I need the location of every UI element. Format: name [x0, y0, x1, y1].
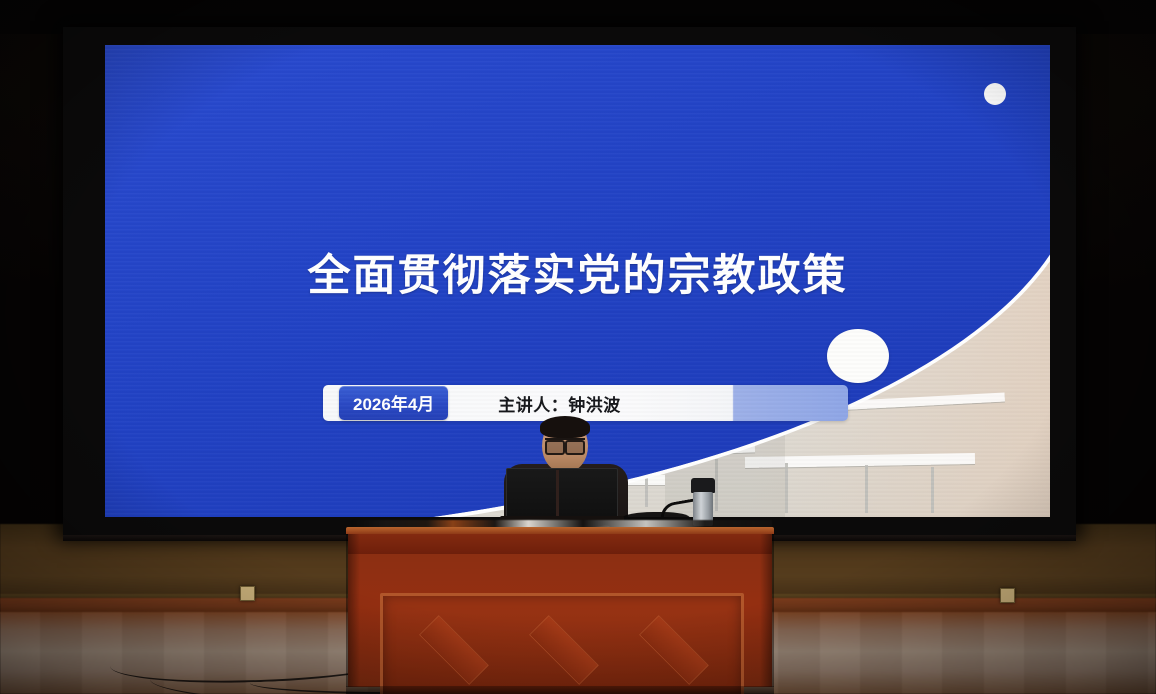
podium-band [348, 534, 772, 554]
podium-panel [380, 593, 744, 694]
podium-base-shadow [346, 686, 774, 694]
laptop [506, 468, 618, 523]
photo-desk-leg [865, 465, 868, 513]
podium-diamond-pattern [395, 614, 729, 684]
decorative-dot-icon [984, 83, 1006, 105]
presenter-hair [540, 416, 590, 438]
photo-desk-leg [931, 467, 934, 513]
podium-diamond [639, 615, 708, 684]
laptop-screen [506, 468, 618, 518]
laptop-hinge [556, 470, 559, 516]
slide-title: 全面贯彻落实党的宗教政策 [105, 241, 1050, 303]
wall-outlet-left-icon [240, 586, 255, 601]
podium-diamond [529, 615, 598, 684]
podium-top-rail [346, 527, 774, 534]
podium-diamond [419, 615, 488, 684]
auditorium-scene: 全面贯彻落实党的宗教政策 2026年4月 主讲人：钟洪波 [0, 0, 1156, 694]
podium [346, 527, 774, 694]
photo-desk-leg [785, 463, 788, 513]
glasses-icon [545, 438, 585, 449]
slide-speaker-label: 主讲人：钟洪波 [297, 391, 822, 416]
thermos [690, 478, 716, 526]
thermos-cap [691, 478, 715, 493]
podium-shadow-right [760, 534, 774, 687]
slide-subtitle-bar: 2026年4月 主讲人：钟洪波 [323, 385, 848, 421]
podium-body [348, 554, 772, 687]
decorative-circle-icon [827, 329, 889, 383]
podium-shadow-left [346, 534, 360, 687]
wall-outlet-right-icon [1000, 588, 1015, 603]
